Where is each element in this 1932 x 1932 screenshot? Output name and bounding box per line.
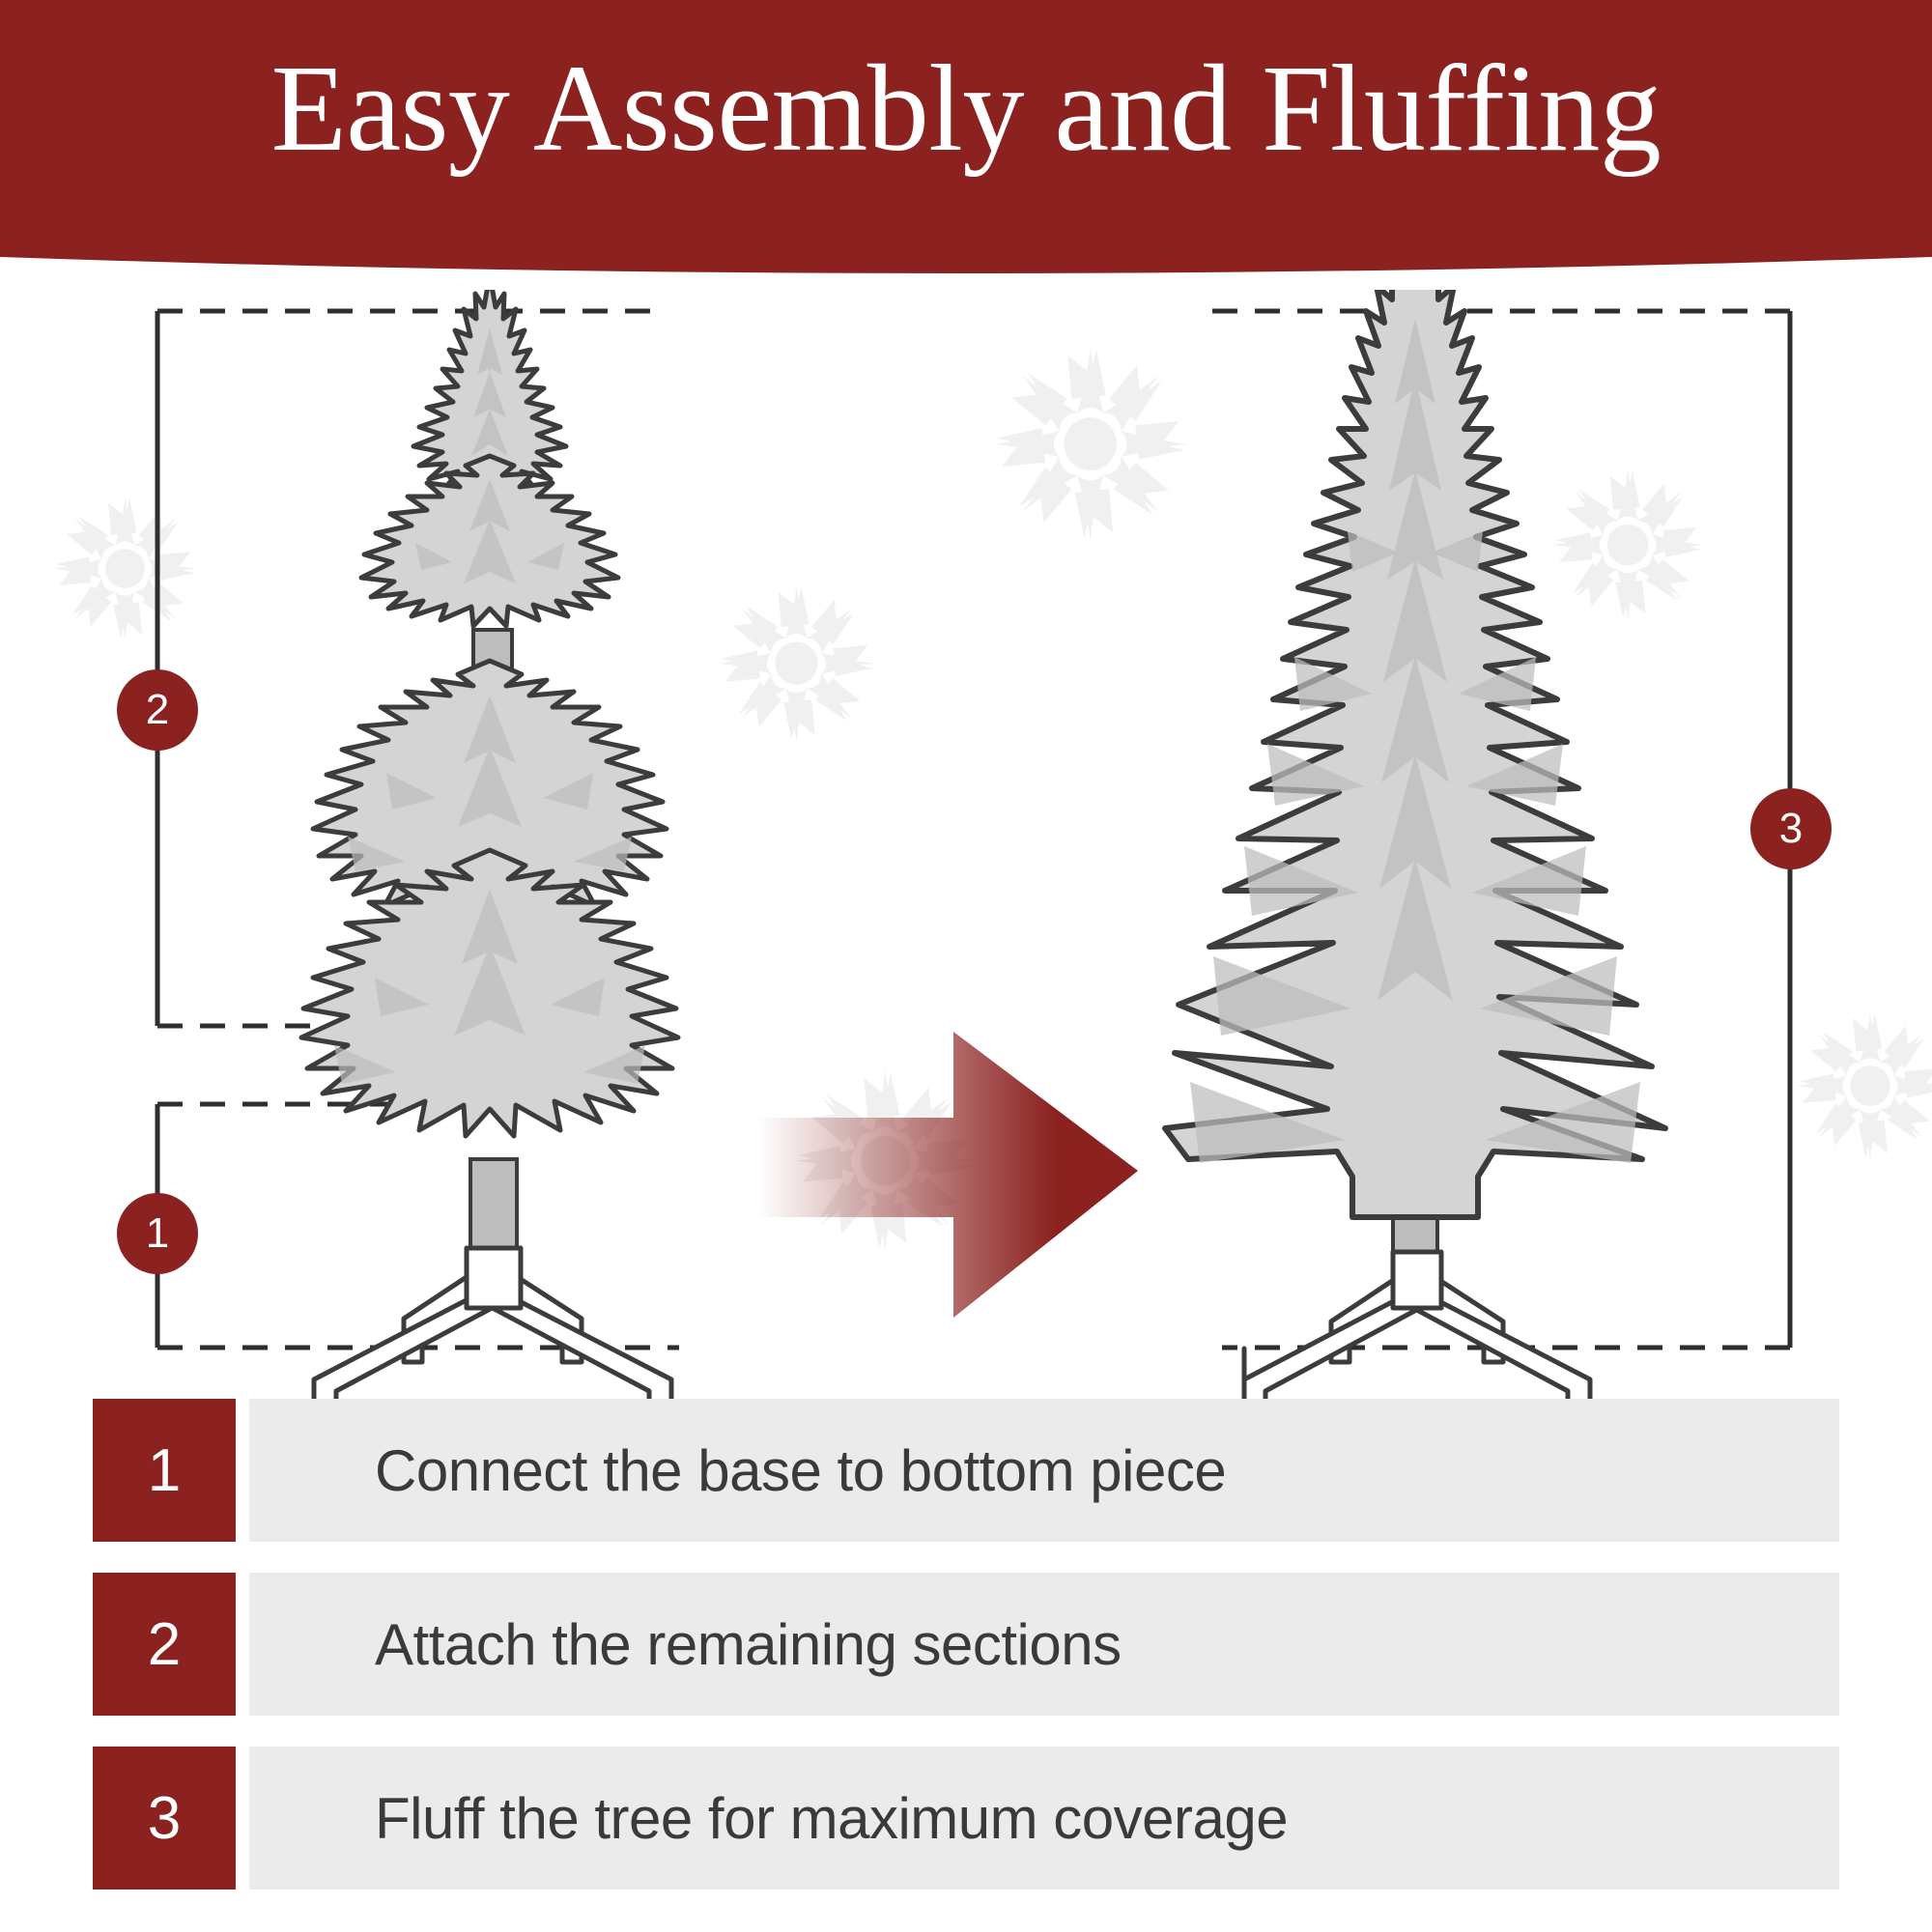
stand-center-post [467, 1248, 521, 1308]
assembled-stand-center-post [1393, 1252, 1441, 1308]
header-banner: Easy Assembly and Fluffing [0, 0, 1932, 290]
transformation-arrow [758, 1032, 1138, 1318]
step-bar-3: Fluff the tree for maximum coverage [249, 1747, 1839, 1889]
step-bar-2: Attach the remaining sections [249, 1573, 1839, 1716]
step-number-2: 2 [93, 1573, 236, 1716]
tree-section-bottom [301, 850, 678, 1248]
assembly-step-list: 1 Connect the base to bottom piece 2 Att… [0, 1399, 1932, 1920]
diagram-badge-2: 2 [117, 669, 198, 751]
page-title: Easy Assembly and Fluffing [0, 46, 1932, 170]
disassembled-tree-group [301, 290, 678, 1401]
tree-stand [314, 1248, 671, 1401]
step-label-2: Attach the remaining sections [249, 1611, 1122, 1678]
step-label-3: Fluff the tree for maximum coverage [249, 1785, 1288, 1852]
step-number-3: 3 [93, 1747, 236, 1889]
step-number-1: 1 [93, 1399, 236, 1542]
step-bar-1: Connect the base to bottom piece [249, 1399, 1839, 1542]
diagram-badge-3: 3 [1750, 788, 1832, 869]
step-row-2: 2 Attach the remaining sections [0, 1573, 1932, 1716]
assembled-tree-stand [1244, 1252, 1590, 1401]
assembled-tree-group [1165, 290, 1665, 1401]
assembly-diagram: 1 2 3 [0, 290, 1932, 1401]
step-label-1: Connect the base to bottom piece [249, 1437, 1226, 1504]
diagram-canvas [0, 290, 1932, 1401]
diagram-badge-1: 1 [117, 1193, 198, 1274]
step-row-3: 3 Fluff the tree for maximum coverage [0, 1747, 1932, 1889]
step-row-1: 1 Connect the base to bottom piece [0, 1399, 1932, 1542]
